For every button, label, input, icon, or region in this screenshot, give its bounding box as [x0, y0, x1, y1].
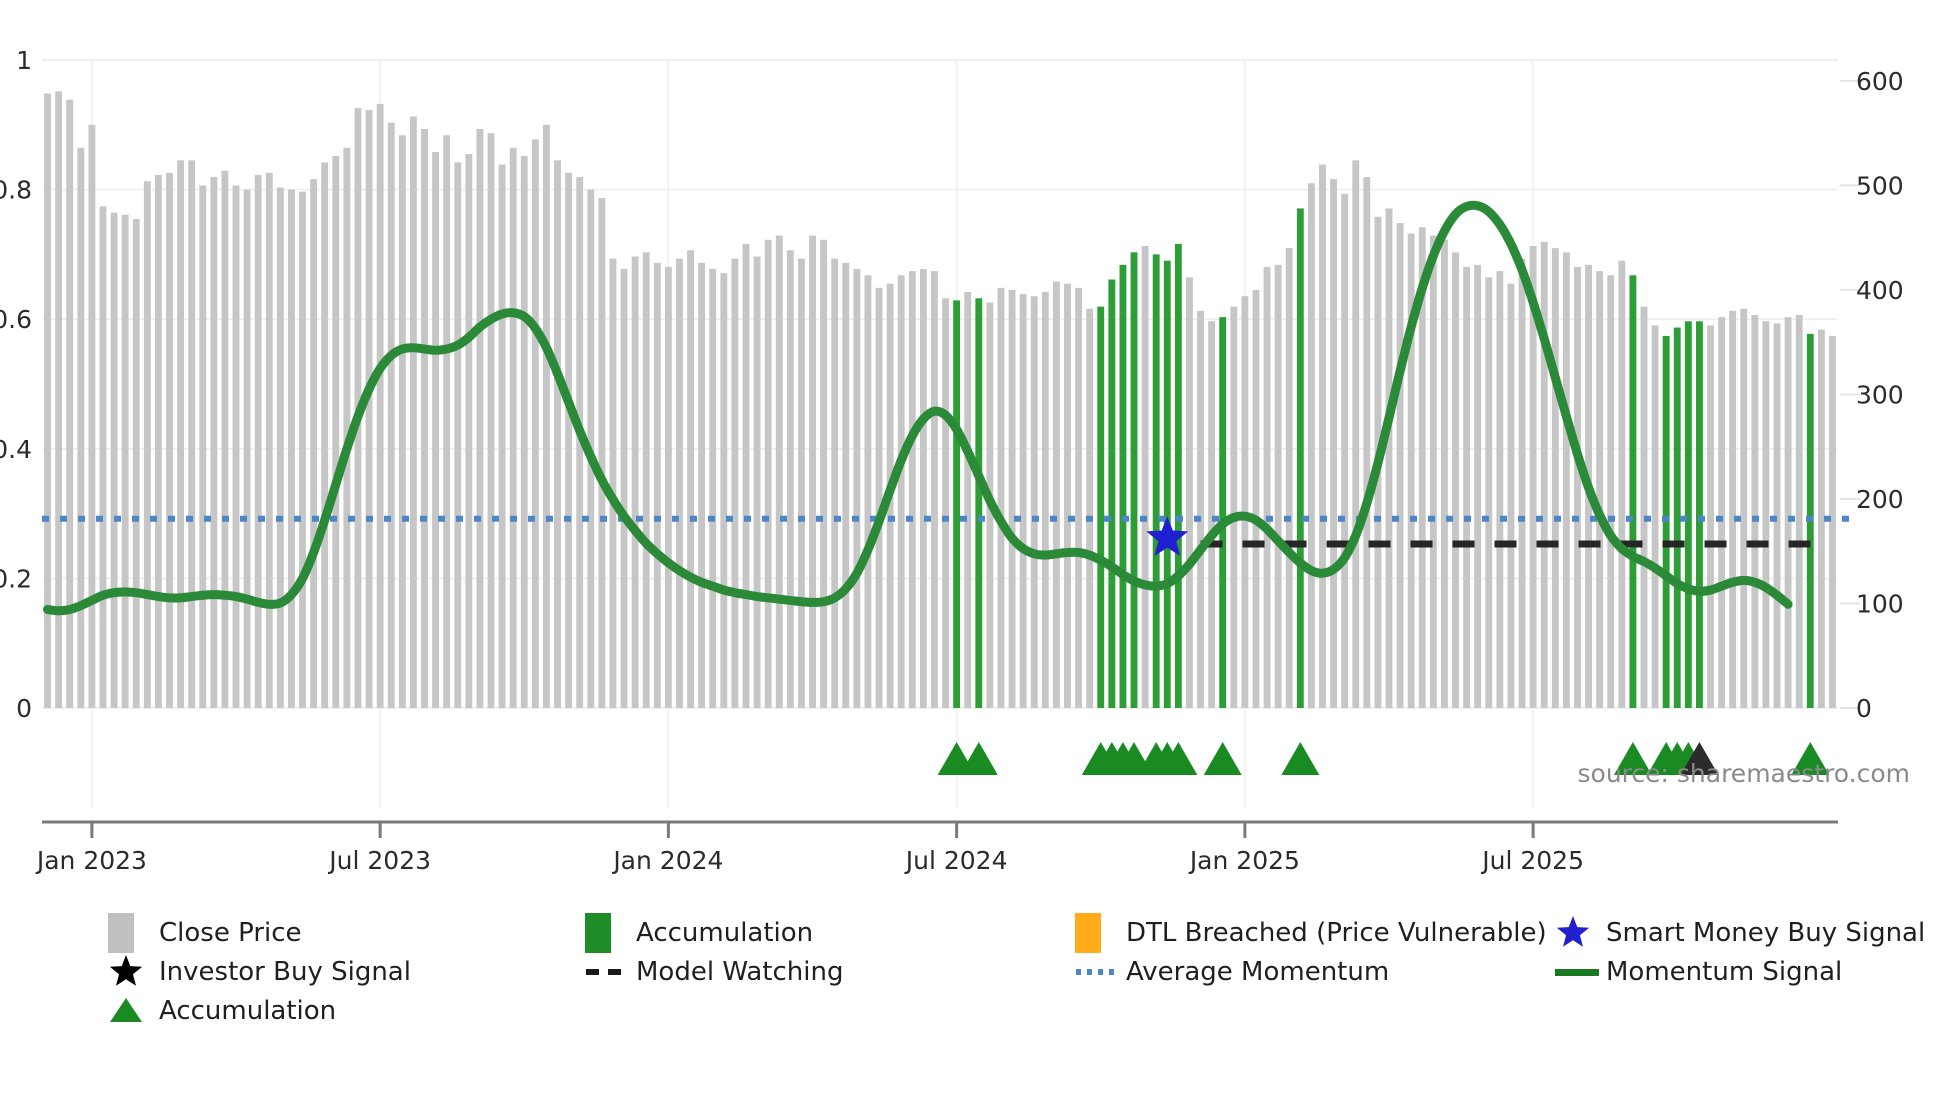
- close-price-bar: [1563, 252, 1570, 708]
- accumulation-bar: [1663, 336, 1670, 708]
- legend-item-label: Close Price: [159, 918, 302, 948]
- close-price-bar: [798, 259, 805, 708]
- x-axis-label: Jan 2025: [1188, 846, 1300, 875]
- close-price-bar: [1541, 242, 1548, 708]
- close-price-bar: [443, 135, 450, 708]
- close-price-bar: [1785, 317, 1792, 708]
- close-price-bar: [787, 250, 794, 708]
- close-price-bar: [831, 259, 838, 708]
- close-price-bar: [1031, 296, 1038, 708]
- close-price-bar: [1064, 284, 1071, 708]
- close-price-bar: [1474, 265, 1481, 708]
- close-price-bar: [1463, 267, 1470, 708]
- close-price-bar: [44, 93, 51, 708]
- accumulation-bar: [953, 300, 960, 708]
- legend-item[interactable]: Model Watching: [585, 951, 843, 992]
- close-price-bar: [776, 236, 783, 708]
- close-price-bar: [643, 252, 650, 708]
- close-price-bar: [366, 110, 373, 708]
- close-price-bar: [687, 250, 694, 708]
- close-price-bar: [676, 259, 683, 708]
- close-price-bar: [1818, 330, 1825, 708]
- close-price-bar: [1363, 177, 1370, 708]
- close-price-bar: [1341, 194, 1348, 708]
- close-price-bar: [221, 171, 228, 708]
- accumulation-bar: [1108, 279, 1115, 708]
- y-axis-right-label: 500: [1856, 171, 1904, 200]
- close-price-bar: [898, 275, 905, 708]
- close-price-bar: [499, 165, 506, 708]
- y-axis-right-label: 200: [1856, 485, 1904, 514]
- legend-item[interactable]: Accumulation: [108, 990, 336, 1031]
- close-price-bar: [421, 129, 428, 708]
- close-price-bar: [233, 185, 240, 708]
- close-price-bar: [565, 173, 572, 708]
- close-price-bar: [66, 100, 73, 708]
- close-price-bar: [1230, 307, 1237, 708]
- close-price-bar: [598, 198, 605, 708]
- legend-square-icon: [585, 913, 617, 953]
- close-price-bar: [1430, 236, 1437, 708]
- close-price-bar: [809, 236, 816, 708]
- x-axis-label: Jul 2023: [327, 846, 431, 875]
- accumulation-bar: [1674, 328, 1681, 708]
- close-price-bar: [1729, 311, 1736, 708]
- legend-star-icon: [1555, 913, 1587, 953]
- legend-item-label: Investor Buy Signal: [159, 957, 411, 987]
- close-price-bar: [1596, 271, 1603, 708]
- close-price-bar: [1241, 296, 1248, 708]
- y-axis-right-label: 300: [1856, 380, 1904, 409]
- close-price-bar: [288, 190, 295, 708]
- close-price-bar: [1652, 325, 1659, 708]
- close-price-bar: [1496, 271, 1503, 708]
- close-price-bar: [543, 125, 550, 708]
- close-price-bar: [931, 271, 938, 708]
- close-price-bar: [754, 256, 761, 708]
- close-price-bar: [665, 267, 672, 708]
- chart-page: 00.20.40.60.810100200300400500600Jan 202…: [0, 0, 1960, 1102]
- y-axis-left-label: 0.6: [0, 305, 32, 334]
- legend-triangle-icon: [108, 991, 140, 1031]
- close-price-bar: [1796, 315, 1803, 708]
- close-price-bar: [1607, 275, 1614, 708]
- close-price-bar: [1075, 288, 1082, 708]
- close-price-bar: [942, 298, 949, 708]
- close-price-bar: [1751, 315, 1758, 708]
- legend-star-icon: [108, 952, 140, 992]
- close-price-bar: [1829, 336, 1836, 708]
- accumulation-bar: [1696, 321, 1703, 708]
- close-price-bar: [920, 269, 927, 708]
- legend-solid-line-icon: [1555, 952, 1587, 992]
- close-price-bar: [310, 179, 317, 708]
- close-price-bar: [488, 133, 495, 708]
- close-price-bar: [77, 148, 84, 708]
- y-axis-right-label: 600: [1856, 67, 1904, 96]
- accumulation-bar: [1629, 275, 1636, 708]
- close-price-bar: [1519, 259, 1526, 708]
- x-axis-label: Jul 2025: [1480, 846, 1584, 875]
- close-price-bar: [88, 125, 95, 708]
- close-price-bar: [621, 269, 628, 708]
- close-price-bar: [1774, 323, 1781, 708]
- close-price-bar: [1397, 223, 1404, 708]
- y-axis-left-label: 1: [16, 46, 32, 75]
- close-price-bar: [321, 162, 328, 708]
- accumulation-triangle-icon: [1204, 742, 1242, 775]
- close-price-bar: [1452, 252, 1459, 708]
- close-price-bar: [465, 154, 472, 708]
- legend-item[interactable]: Average Momentum: [1075, 951, 1389, 992]
- source-attribution: source: sharemaestro.com: [1578, 759, 1911, 788]
- close-price-bar: [277, 188, 284, 708]
- legend-item-label: Smart Money Buy Signal: [1606, 918, 1925, 948]
- legend-item-label: Accumulation: [159, 996, 336, 1026]
- close-price-bar: [743, 244, 750, 708]
- close-price-bar: [510, 148, 517, 708]
- close-price-bar: [1763, 321, 1770, 708]
- y-axis-left-label: 0.2: [0, 564, 32, 593]
- x-axis-label: Jan 2024: [611, 846, 723, 875]
- accumulation-bar: [1119, 265, 1126, 708]
- close-price-bar: [554, 160, 561, 708]
- close-price-bar: [155, 175, 162, 708]
- close-price-bars: [44, 91, 1836, 708]
- close-price-bar: [255, 175, 262, 708]
- close-price-bar: [1618, 261, 1625, 708]
- x-axis-label: Jan 2023: [35, 846, 147, 875]
- close-price-bar: [144, 181, 151, 708]
- accumulation-bar: [1097, 307, 1104, 708]
- accumulation-triangle-icon: [1281, 742, 1319, 775]
- close-price-bar: [1286, 248, 1293, 708]
- momentum-signal-path: [48, 205, 1789, 611]
- close-price-bar: [1485, 277, 1492, 708]
- accumulation-bar: [1685, 321, 1692, 708]
- close-price-bar: [1053, 282, 1060, 708]
- legend-item[interactable]: Close Price: [108, 912, 302, 953]
- close-price-bar: [720, 273, 727, 708]
- close-price-bar: [632, 256, 639, 708]
- close-price-bar: [476, 129, 483, 708]
- close-price-bar: [399, 135, 406, 708]
- close-price-bar: [177, 160, 184, 708]
- close-price-bar: [532, 139, 539, 708]
- close-price-bar: [853, 269, 860, 708]
- close-price-bar: [1386, 208, 1393, 708]
- close-price-bar: [1330, 179, 1337, 708]
- close-price-bar: [909, 271, 916, 708]
- close-price-bar: [210, 177, 217, 708]
- close-price-bar: [188, 160, 195, 708]
- close-price-bar: [410, 116, 417, 708]
- close-price-bar: [1308, 183, 1315, 708]
- accumulation-bar: [975, 298, 982, 708]
- legend-item[interactable]: Accumulation: [585, 912, 813, 953]
- close-price-bar: [1508, 284, 1515, 708]
- accumulation-bar: [1219, 317, 1226, 708]
- close-price-bar: [1086, 309, 1093, 708]
- close-price-bar: [709, 269, 716, 708]
- close-price-bar: [1264, 267, 1271, 708]
- close-price-bar: [244, 190, 251, 708]
- legend-dotted-line-icon: [1075, 952, 1107, 992]
- close-price-bar: [1441, 240, 1448, 708]
- close-price-bar: [998, 288, 1005, 708]
- legend-dashed-line-icon: [585, 952, 617, 992]
- close-price-bar: [133, 219, 140, 708]
- close-price-bar: [1020, 294, 1027, 708]
- legend-item-label: Accumulation: [636, 918, 813, 948]
- momentum-signal-line: [48, 205, 1789, 611]
- close-price-bar: [1352, 160, 1359, 708]
- close-price-bar: [266, 173, 273, 708]
- y-axis-left-label: 0: [16, 694, 32, 723]
- close-price-bar: [377, 104, 384, 708]
- accumulation-bar: [1175, 244, 1182, 708]
- close-price-bar: [1009, 290, 1016, 708]
- close-price-bar: [1574, 267, 1581, 708]
- accumulation-bar: [1131, 252, 1138, 708]
- close-price-bar: [654, 263, 661, 708]
- close-price-bar: [199, 185, 206, 708]
- close-price-bar: [1186, 277, 1193, 708]
- legend-item[interactable]: DTL Breached (Price Vulnerable): [1075, 912, 1547, 953]
- close-price-bar: [865, 275, 872, 708]
- close-price-bar: [1740, 309, 1747, 708]
- close-price-bar: [1641, 307, 1648, 708]
- close-price-bar: [521, 156, 528, 708]
- close-price-bar: [1142, 246, 1149, 708]
- close-price-bar: [432, 152, 439, 708]
- legend-item-label: Momentum Signal: [1606, 957, 1842, 987]
- close-price-bar: [842, 263, 849, 708]
- y-axis-right-label: 100: [1856, 589, 1904, 618]
- y-axis-left-label: 0.8: [0, 176, 32, 205]
- close-price-bar: [166, 173, 173, 708]
- legend-item[interactable]: Investor Buy Signal: [108, 951, 411, 992]
- close-price-bar: [100, 206, 107, 708]
- close-price-bar: [332, 156, 339, 708]
- close-price-bar: [1253, 290, 1260, 708]
- close-price-bar: [1552, 248, 1559, 708]
- legend-item[interactable]: Smart Money Buy Signal: [1555, 912, 1925, 953]
- close-price-bar: [388, 123, 395, 708]
- accumulation-bar: [1164, 261, 1171, 708]
- close-price-bar: [1718, 317, 1725, 708]
- legend-square-icon: [1075, 913, 1107, 953]
- close-price-bar: [122, 215, 129, 708]
- close-price-bar: [876, 288, 883, 708]
- y-axis-right-label: 0: [1856, 694, 1872, 723]
- accumulation-bar: [1153, 254, 1160, 708]
- close-price-bar: [964, 292, 971, 708]
- y-axis-right-label: 400: [1856, 276, 1904, 305]
- close-price-bar: [1319, 165, 1326, 708]
- close-price-bar: [454, 162, 461, 708]
- close-price-bar: [610, 259, 617, 708]
- close-price-bar: [55, 91, 62, 708]
- legend-item-label: Model Watching: [636, 957, 843, 987]
- close-price-bar: [1197, 311, 1204, 708]
- close-price-bar: [765, 240, 772, 708]
- close-price-bar: [111, 213, 118, 708]
- close-price-bar: [1707, 325, 1714, 708]
- close-price-bar: [731, 259, 738, 708]
- legend-item[interactable]: Momentum Signal: [1555, 951, 1842, 992]
- x-axis-label: Jul 2024: [904, 846, 1008, 875]
- close-price-bar: [820, 240, 827, 708]
- close-price-bar: [299, 192, 306, 708]
- legend-item-label: Average Momentum: [1126, 957, 1389, 987]
- legend-square-icon: [108, 913, 140, 953]
- close-price-bar: [698, 263, 705, 708]
- close-price-bar: [1275, 265, 1282, 708]
- y-axis-left-label: 0.4: [0, 435, 32, 464]
- close-price-bar: [1208, 321, 1215, 708]
- close-price-bar: [1042, 292, 1049, 708]
- chart-legend: Close PriceAccumulationDTL Breached (Pri…: [0, 912, 1960, 1052]
- accumulation-bar: [1297, 208, 1304, 708]
- legend-item-label: DTL Breached (Price Vulnerable): [1126, 918, 1547, 948]
